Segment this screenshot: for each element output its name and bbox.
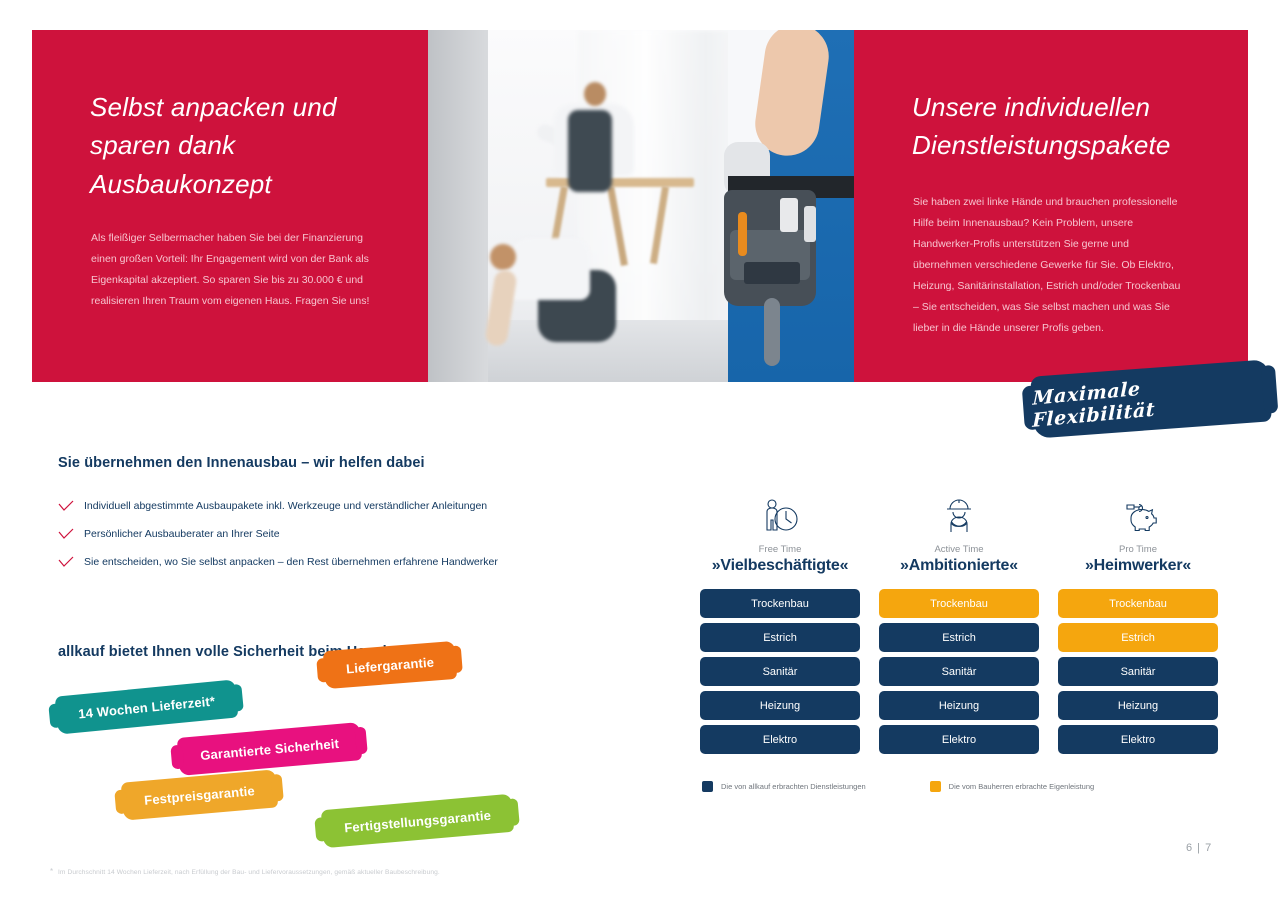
- legend-swatch-navy: [702, 781, 713, 792]
- package-title: »Ambitionierte«: [879, 557, 1039, 575]
- photo-wall-left: [428, 30, 488, 382]
- piggy-bank-tools-icon: [1058, 492, 1218, 538]
- hero-right-body: Sie haben zwei linke Hände und brauchen …: [913, 192, 1181, 339]
- photo-tool-handle: [764, 298, 780, 366]
- legend-label-allkauf: Die von allkauf erbrachten Dienstleistun…: [721, 782, 866, 791]
- hero-right-panel: Unsere individuellen Dienstleistungspake…: [854, 30, 1248, 382]
- legend-label-bauherr: Die vom Bauherren erbrachte Eigenleistun…: [949, 782, 1095, 791]
- hero-left-body: Als fleißiger Selbermacher haben Sie bei…: [91, 228, 379, 312]
- check-icon: [58, 528, 84, 540]
- package-rows: Trockenbau Estrich Sanitär Heizung Elekt…: [1058, 589, 1218, 754]
- checklist: Individuell abgestimmte Ausbaupakete ink…: [58, 492, 578, 576]
- checklist-item: Sie entscheiden, wo Sie selbst anpacken …: [58, 548, 578, 576]
- package-row-trockenbau[interactable]: Trockenbau: [1058, 589, 1218, 618]
- checklist-item-label: Individuell abgestimmte Ausbaupakete ink…: [84, 499, 487, 514]
- package-row-elektro[interactable]: Elektro: [879, 725, 1039, 754]
- package-subtitle: Free Time: [700, 544, 860, 555]
- package-column-ambitionierte: Active Time »Ambitionierte« Trockenbau E…: [879, 492, 1039, 754]
- checklist-item: Persönlicher Ausbauberater an Ihrer Seit…: [58, 520, 578, 548]
- worker-crossed-arms-icon: [879, 492, 1039, 538]
- package-row-trockenbau[interactable]: Trockenbau: [700, 589, 860, 618]
- photo-worker-kneeling-head: [490, 244, 516, 270]
- package-column-heimwerker: Pro Time »Heimwerker« Trockenbau Estrich…: [1058, 492, 1218, 754]
- guarantee-badge-sicherheit: Garantierte Sicherheit: [177, 722, 363, 776]
- service-packages: Free Time »Vielbeschäftigte« Trockenbau …: [700, 492, 1240, 754]
- photo-worker-standing-overall: [568, 110, 612, 192]
- package-row-sanitaer[interactable]: Sanitär: [879, 657, 1039, 686]
- packages-legend: Die von allkauf erbrachten Dienstleistun…: [702, 781, 1094, 792]
- package-subtitle: Pro Time: [1058, 544, 1218, 555]
- photo-tool-screwdriver: [738, 212, 747, 256]
- footnote-marker: *: [50, 867, 53, 876]
- brochure-page: Selbst anpacken und sparen dank Ausbauko…: [0, 0, 1280, 906]
- checklist-item-label: Sie entscheiden, wo Sie selbst anpacken …: [84, 555, 498, 570]
- checklist-heading: Sie übernehmen den Innenausbau – wir hel…: [58, 455, 425, 471]
- package-row-estrich[interactable]: Estrich: [1058, 623, 1218, 652]
- photo-worker-kneeling-body: [506, 238, 590, 300]
- hero-photo: [428, 30, 854, 382]
- legend-item-bauherr: Die vom Bauherren erbrachte Eigenleistun…: [930, 781, 1095, 792]
- hero-right-title: Unsere individuellen Dienstleistungspake…: [912, 88, 1212, 165]
- package-row-trockenbau[interactable]: Trockenbau: [879, 589, 1039, 618]
- check-icon: [58, 556, 84, 568]
- package-row-estrich[interactable]: Estrich: [879, 623, 1039, 652]
- footnote-text: Im Durchschnitt 14 Wochen Lieferzeit, na…: [58, 869, 440, 876]
- guarantee-badge-fertigstellungsgarantie: Fertigstellungsgarantie: [321, 794, 515, 849]
- guarantee-badge-lieferzeit: 14 Wochen Lieferzeit*: [55, 679, 239, 734]
- page-number: 6 | 7: [1186, 842, 1212, 854]
- package-column-vielbeschaeftigte: Free Time »Vielbeschäftigte« Trockenbau …: [700, 492, 860, 754]
- hero-left-title: Selbst anpacken und sparen dank Ausbauko…: [90, 88, 390, 203]
- photo-tool-bits: [744, 262, 800, 284]
- check-icon: [58, 500, 84, 512]
- hero-left-panel: Selbst anpacken und sparen dank Ausbauko…: [32, 30, 428, 382]
- legend-swatch-orange: [930, 781, 941, 792]
- package-row-heizung[interactable]: Heizung: [1058, 691, 1218, 720]
- guarantee-badge-festpreisgarantie: Festpreisgarantie: [121, 769, 279, 820]
- photo-tool-blade: [804, 206, 816, 242]
- hero-section: Selbst anpacken und sparen dank Ausbauko…: [32, 30, 1248, 382]
- package-row-estrich[interactable]: Estrich: [700, 623, 860, 652]
- person-clock-icon: [700, 492, 860, 538]
- package-row-heizung[interactable]: Heizung: [700, 691, 860, 720]
- checklist-item: Individuell abgestimmte Ausbaupakete ink…: [58, 492, 578, 520]
- package-row-elektro[interactable]: Elektro: [1058, 725, 1218, 754]
- package-row-elektro[interactable]: Elektro: [700, 725, 860, 754]
- package-row-heizung[interactable]: Heizung: [879, 691, 1039, 720]
- package-rows: Trockenbau Estrich Sanitär Heizung Elekt…: [700, 589, 860, 754]
- legend-item-allkauf: Die von allkauf erbrachten Dienstleistun…: [702, 781, 866, 792]
- package-subtitle: Active Time: [879, 544, 1039, 555]
- package-row-sanitaer[interactable]: Sanitär: [700, 657, 860, 686]
- photo-tool-chisel: [780, 198, 798, 232]
- package-title: »Vielbeschäftigte«: [700, 557, 860, 575]
- guarantee-badges: Liefergarantie 14 Wochen Lieferzeit* Gar…: [58, 630, 578, 830]
- flexibility-ribbon-label: Maximale Flexibilität: [1032, 366, 1270, 432]
- package-rows: Trockenbau Estrich Sanitär Heizung Elekt…: [879, 589, 1039, 754]
- checklist-item-label: Persönlicher Ausbauberater an Ihrer Seit…: [84, 527, 280, 542]
- guarantee-badge-liefergarantie: Liefergarantie: [323, 641, 458, 689]
- package-row-sanitaer[interactable]: Sanitär: [1058, 657, 1218, 686]
- photo-worker-standing-head: [584, 82, 606, 106]
- package-title: »Heimwerker«: [1058, 557, 1218, 575]
